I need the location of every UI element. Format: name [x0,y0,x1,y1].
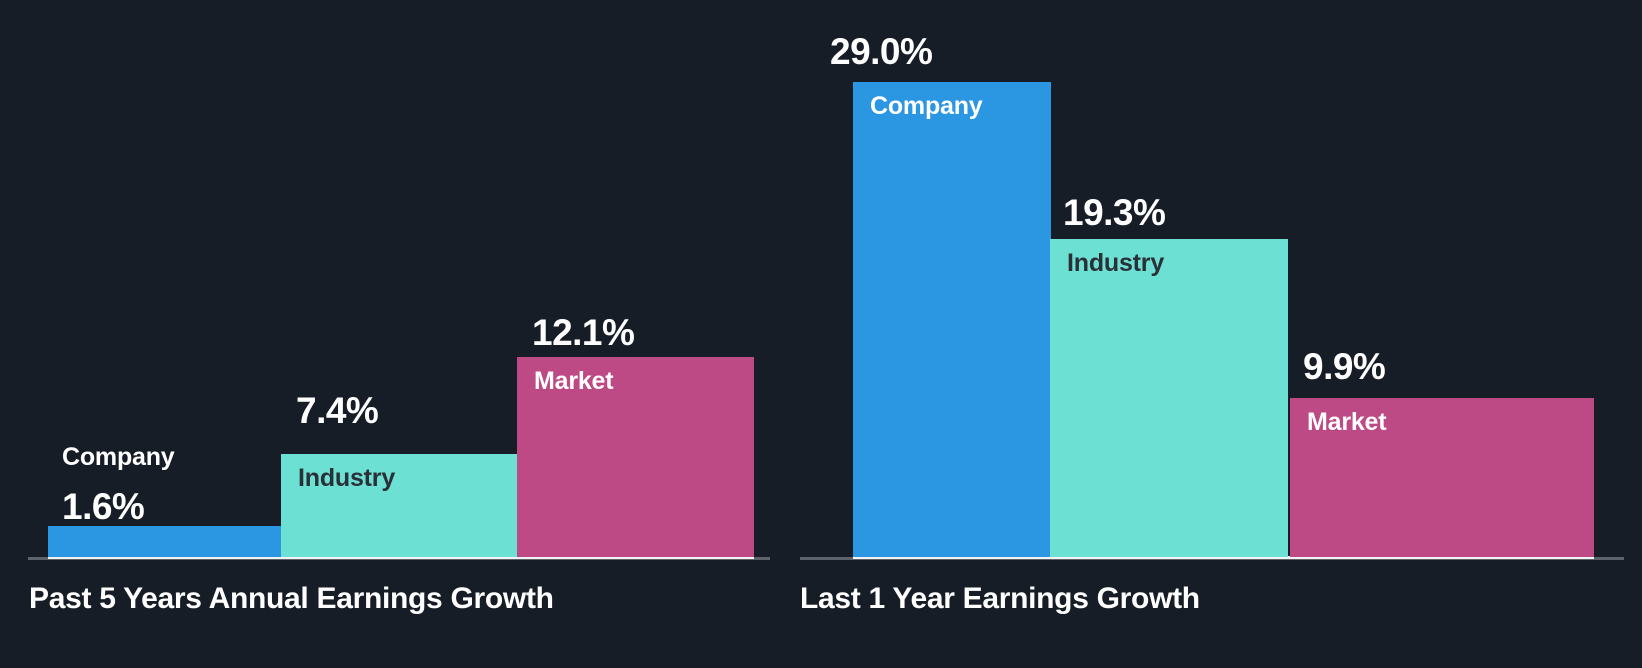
bar-market-left[interactable]: Market [517,357,754,557]
bar-name-market-left: Market [534,367,613,396]
bar-name-company-right: Company [870,92,983,121]
bar-value-market-right: 9.9% [1303,348,1385,385]
bar-industry-right[interactable]: Industry [1050,239,1288,557]
bar-company-right[interactable]: Company [853,82,1051,557]
bar-value-market-left: 12.1% [532,314,634,351]
chart-title-left: Past 5 Years Annual Earnings Growth [29,584,554,614]
bar-label-company-left: Company [62,445,175,470]
earnings-growth-comparison: Company 1.6% 7.4% Industry 12.1% Market … [0,0,1642,668]
bar-industry-left[interactable]: Industry [281,454,517,557]
bar-name-market-right: Market [1307,408,1386,437]
bar-name-industry-right: Industry [1067,249,1164,278]
chart-title-right: Last 1 Year Earnings Growth [800,584,1200,614]
chart-last-1-year: 29.0% Company 19.3% Industry 9.9% Market… [800,0,1642,668]
bar-name-industry-left: Industry [298,464,395,493]
bar-value-industry-left: 7.4% [296,392,378,429]
bar-value-company-right: 29.0% [830,33,932,70]
bar-company-left[interactable] [48,526,281,557]
bar-value-industry-right: 19.3% [1063,194,1165,231]
chart-past-5-years: Company 1.6% 7.4% Industry 12.1% Market … [0,0,800,668]
bar-market-right[interactable]: Market [1290,398,1594,557]
bar-value-company-left: 1.6% [62,488,144,525]
